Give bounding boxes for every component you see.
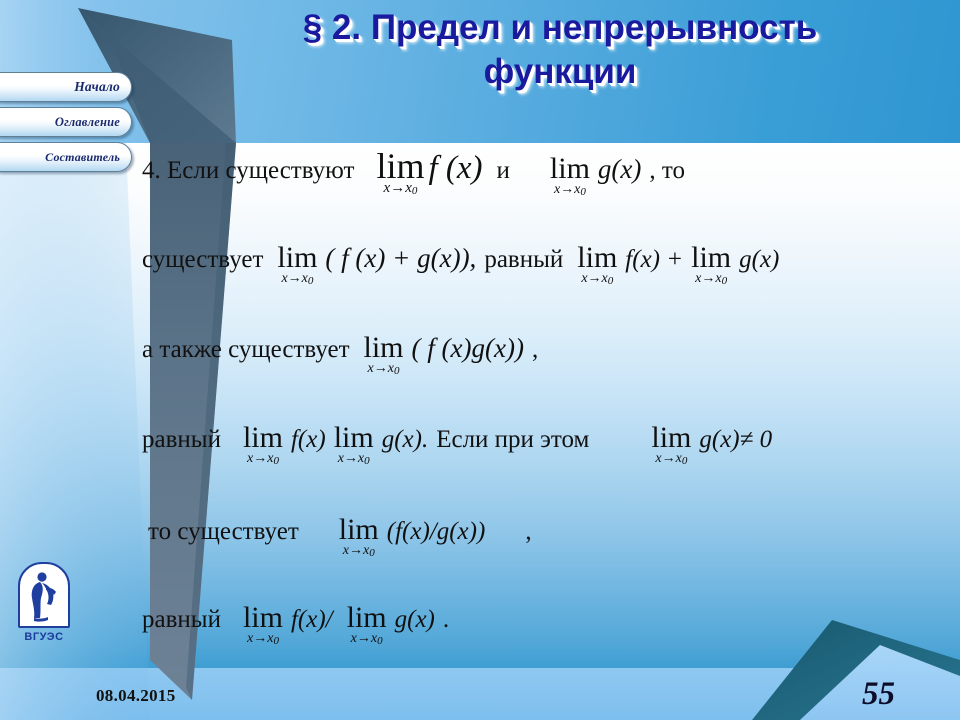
navigation-buttons: Начало Оглавление Составитель [0,72,132,172]
limit-operator: lim x→x0 [339,515,379,561]
line4-function-f: f(x) [291,426,326,454]
line2-sum-expression: ( f (x) + g(x)), [325,243,476,274]
line6-function-g: g(x) [395,606,435,634]
line1-conjunction: и [497,157,510,185]
limit-operator: lim x→x0 [347,603,387,649]
limit-subscript: x→x0 [277,271,317,289]
nav-button-start-label: Начало [74,79,120,95]
nav-button-author-label: Составитель [45,150,120,165]
line3-comma: , [532,336,538,364]
line2-equal-word: равный [484,246,563,274]
limit-operator: lim x→x0 [243,423,283,469]
limit-op-label: lim [243,423,283,453]
line1-function-g: g(x) [598,154,641,185]
limit-operator: lim x→x0 [376,149,424,199]
line4-text-a: равный [142,426,221,454]
limit-op-label: lim [339,515,379,545]
limit-subscript: x→x0 [243,451,283,469]
line1-function-f: f (x) [428,150,482,187]
limit-subscript: x→x0 [339,543,379,561]
limit-op-label: lim [577,243,617,273]
limit-subscript: x→x0 [243,631,283,649]
limit-operator: lim x→x0 [364,333,404,379]
line6-text-a: равный [142,606,221,634]
limit-op-label: lim [243,603,283,633]
limit-operator: lim x→x0 [651,423,691,469]
limit-subscript: x→x0 [691,271,731,289]
line5-text-a: то существует [148,518,299,546]
limit-op-label: lim [347,603,387,633]
math-line-6: равный lim x→x0 f(x)/ lim x→x0 g(x) . [142,603,449,649]
slide-title: § 2. Предел и непрерывность функции [180,6,940,94]
limit-subscript: x→x0 [550,182,590,200]
limit-subscript: x→x0 [577,271,617,289]
math-line-3: а также существует lim x→x0 ( f (x)g(x))… [142,333,538,379]
line5-quotient-expression: (f(x)/g(x)) [387,518,486,546]
math-line-5: то существует lim x→x0 (f(x)/g(x)) , [148,515,532,561]
slide-page-number: 55 [862,676,895,713]
university-logo: ВГУЭС [16,562,72,643]
limit-subscript: x→x0 [334,451,374,469]
limit-subscript: x→x0 [376,181,424,199]
line1-tail: , то [649,157,685,185]
limit-op-label: lim [334,423,374,453]
limit-op-label: lim [550,154,590,184]
limit-subscript: x→x0 [347,631,387,649]
nav-button-author[interactable]: Составитель [0,142,132,172]
limit-op-label: lim [376,149,424,183]
limit-subscript: x→x0 [364,361,404,379]
slide-date: 08.04.2015 [96,686,176,706]
line4-inequality: g(x)≠ 0 [699,426,772,454]
line6-function-f: f(x)/ [291,606,333,634]
line2-function-g: g(x) [739,246,779,274]
limit-operator: lim x→x0 [243,603,283,649]
line1-text-a: 4. Если существуют [142,157,354,185]
limit-operator: lim x→x0 [577,243,617,289]
logo-label: ВГУЭС [16,631,72,643]
slide-content: 4. Если существуют lim x→x0 f (x) и lim … [142,143,960,668]
limit-op-label: lim [691,243,731,273]
logo-emblem-icon [18,562,70,628]
nav-button-contents[interactable]: Оглавление [0,107,132,137]
math-line-1: 4. Если существуют lim x→x0 f (x) и lim … [142,149,685,200]
line5-comma: , [525,518,531,546]
line6-period: . [443,606,449,634]
line2-text-a: существует [142,246,263,274]
presentation-slide: Начало Оглавление Составитель § 2. Преде… [0,0,960,720]
line4-middle-text: Если при этом [436,426,589,454]
line3-text-a: а также существует [142,336,350,364]
line4-function-g: g(x). [382,426,429,454]
math-line-4: равный lim x→x0 f(x) lim x→x0 g(x). Если… [142,423,772,469]
line3-product-expression: ( f (x)g(x)) [412,333,524,364]
limit-operator: lim x→x0 [691,243,731,289]
limit-op-label: lim [364,333,404,363]
nav-button-contents-label: Оглавление [55,115,120,130]
limit-op-label: lim [651,423,691,453]
limit-operator: lim x→x0 [334,423,374,469]
line2-function-f: f(x) + [625,246,683,274]
limit-operator: lim x→x0 [550,154,590,200]
limit-op-label: lim [277,243,317,273]
math-line-2: существует lim x→x0 ( f (x) + g(x)), рав… [142,243,779,289]
limit-operator: lim x→x0 [277,243,317,289]
nav-button-start[interactable]: Начало [0,72,132,102]
limit-subscript: x→x0 [651,451,691,469]
